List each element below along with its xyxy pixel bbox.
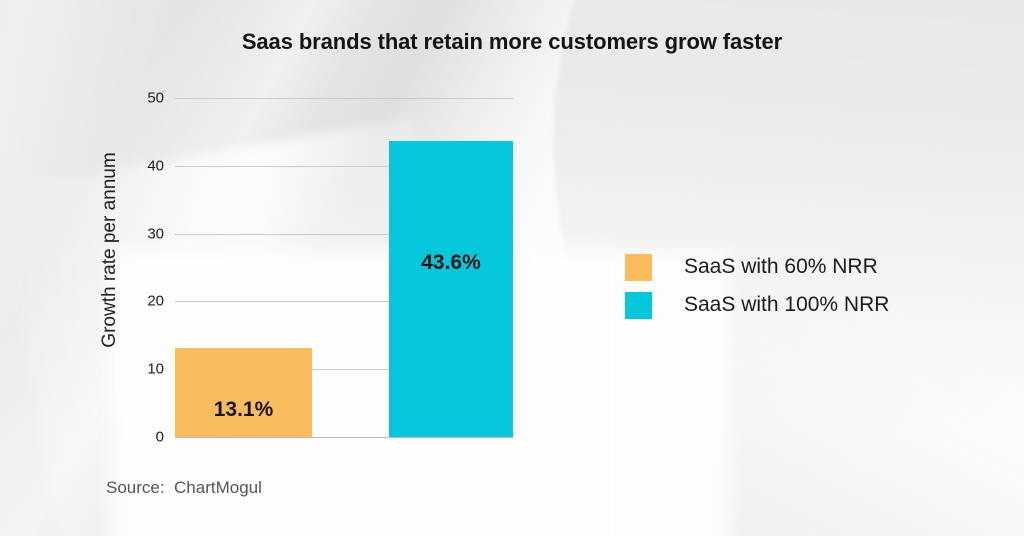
y-axis-tick: 0	[118, 429, 164, 446]
y-axis-tick: 40	[118, 157, 164, 174]
gridline	[175, 98, 513, 99]
legend-label: SaaS with 100% NRR	[684, 293, 889, 317]
y-axis-tick: 10	[118, 361, 164, 378]
legend-item-2[interactable]: SaaS with 100% NRR	[625, 286, 889, 324]
y-axis-tick: 50	[118, 90, 164, 107]
chart-legend: SaaS with 60% NRRSaaS with 100% NRR	[625, 248, 889, 324]
bar-value-label: 13.1%	[175, 398, 312, 422]
legend-swatch-icon	[625, 292, 652, 319]
bar-value-label: 43.6%	[389, 251, 513, 275]
legend-item-1[interactable]: SaaS with 60% NRR	[625, 248, 889, 286]
plot-area: 13.1%43.6%	[175, 98, 513, 437]
bar-2[interactable]: 43.6%	[389, 141, 513, 437]
y-axis-tick: 30	[118, 225, 164, 242]
legend-swatch-icon	[625, 254, 652, 281]
legend-label: SaaS with 60% NRR	[684, 255, 878, 279]
source-caption: Source: ChartMogul	[106, 478, 262, 498]
chart-title: Saas brands that retain more customers g…	[0, 29, 1024, 55]
y-axis-tick-labels: 01020304050	[118, 98, 164, 437]
chart-title-text: Saas brands that retain more customers g…	[242, 29, 782, 54]
y-axis-tick: 20	[118, 293, 164, 310]
chart-canvas: Saas brands that retain more customers g…	[0, 0, 1024, 536]
gridline	[175, 437, 513, 438]
bar-1[interactable]: 13.1%	[175, 348, 312, 437]
